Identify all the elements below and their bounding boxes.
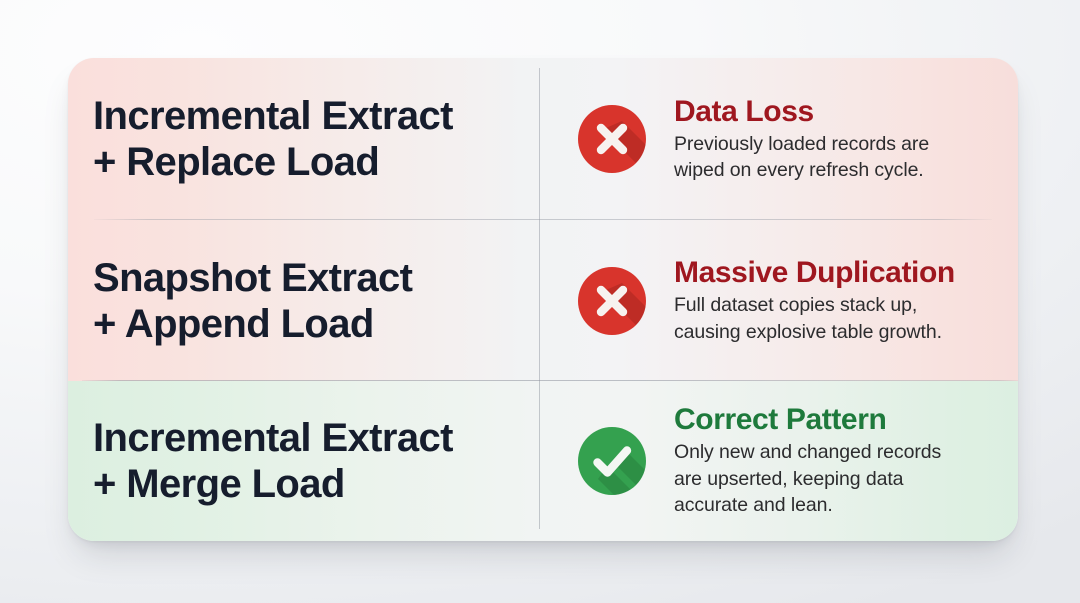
status-block: Correct Pattern Only new and changed rec… <box>576 403 941 519</box>
status-block: Massive Duplication Full dataset copies … <box>576 256 955 345</box>
status-description: Full dataset copies stack up, causing ex… <box>674 292 955 345</box>
x-circle-icon <box>576 265 648 337</box>
pattern-cell: Snapshot Extract + Append Load <box>68 220 540 381</box>
pattern-title: Snapshot Extract + Append Load <box>93 255 412 347</box>
status-text: Correct Pattern Only new and changed rec… <box>674 403 941 519</box>
outcome-cell: Correct Pattern Only new and changed rec… <box>540 381 1018 541</box>
status-block: Data Loss Previously loaded records are … <box>576 95 929 184</box>
diagram-canvas: Incremental Extract + Replace Load <box>0 0 1080 603</box>
status-heading: Massive Duplication <box>674 256 955 290</box>
status-heading: Correct Pattern <box>674 403 941 437</box>
table-row: Incremental Extract + Merge Load <box>68 381 1018 541</box>
pattern-title: Incremental Extract + Merge Load <box>93 415 453 507</box>
pattern-cell: Incremental Extract + Replace Load <box>68 58 540 220</box>
status-description: Only new and changed records are upserte… <box>674 439 941 519</box>
table-row: Snapshot Extract + Append Load <box>68 220 1018 381</box>
x-circle-icon <box>576 103 648 175</box>
pattern-cell: Incremental Extract + Merge Load <box>68 381 540 541</box>
table-row: Incremental Extract + Replace Load <box>68 58 1018 220</box>
comparison-card: Incremental Extract + Replace Load <box>68 58 1018 541</box>
status-text: Data Loss Previously loaded records are … <box>674 95 929 184</box>
status-heading: Data Loss <box>674 95 929 129</box>
outcome-cell: Data Loss Previously loaded records are … <box>540 58 1018 220</box>
outcome-cell: Massive Duplication Full dataset copies … <box>540 220 1018 381</box>
pattern-title: Incremental Extract + Replace Load <box>93 93 453 185</box>
status-text: Massive Duplication Full dataset copies … <box>674 256 955 345</box>
check-circle-icon <box>576 425 648 497</box>
status-description: Previously loaded records are wiped on e… <box>674 131 929 184</box>
